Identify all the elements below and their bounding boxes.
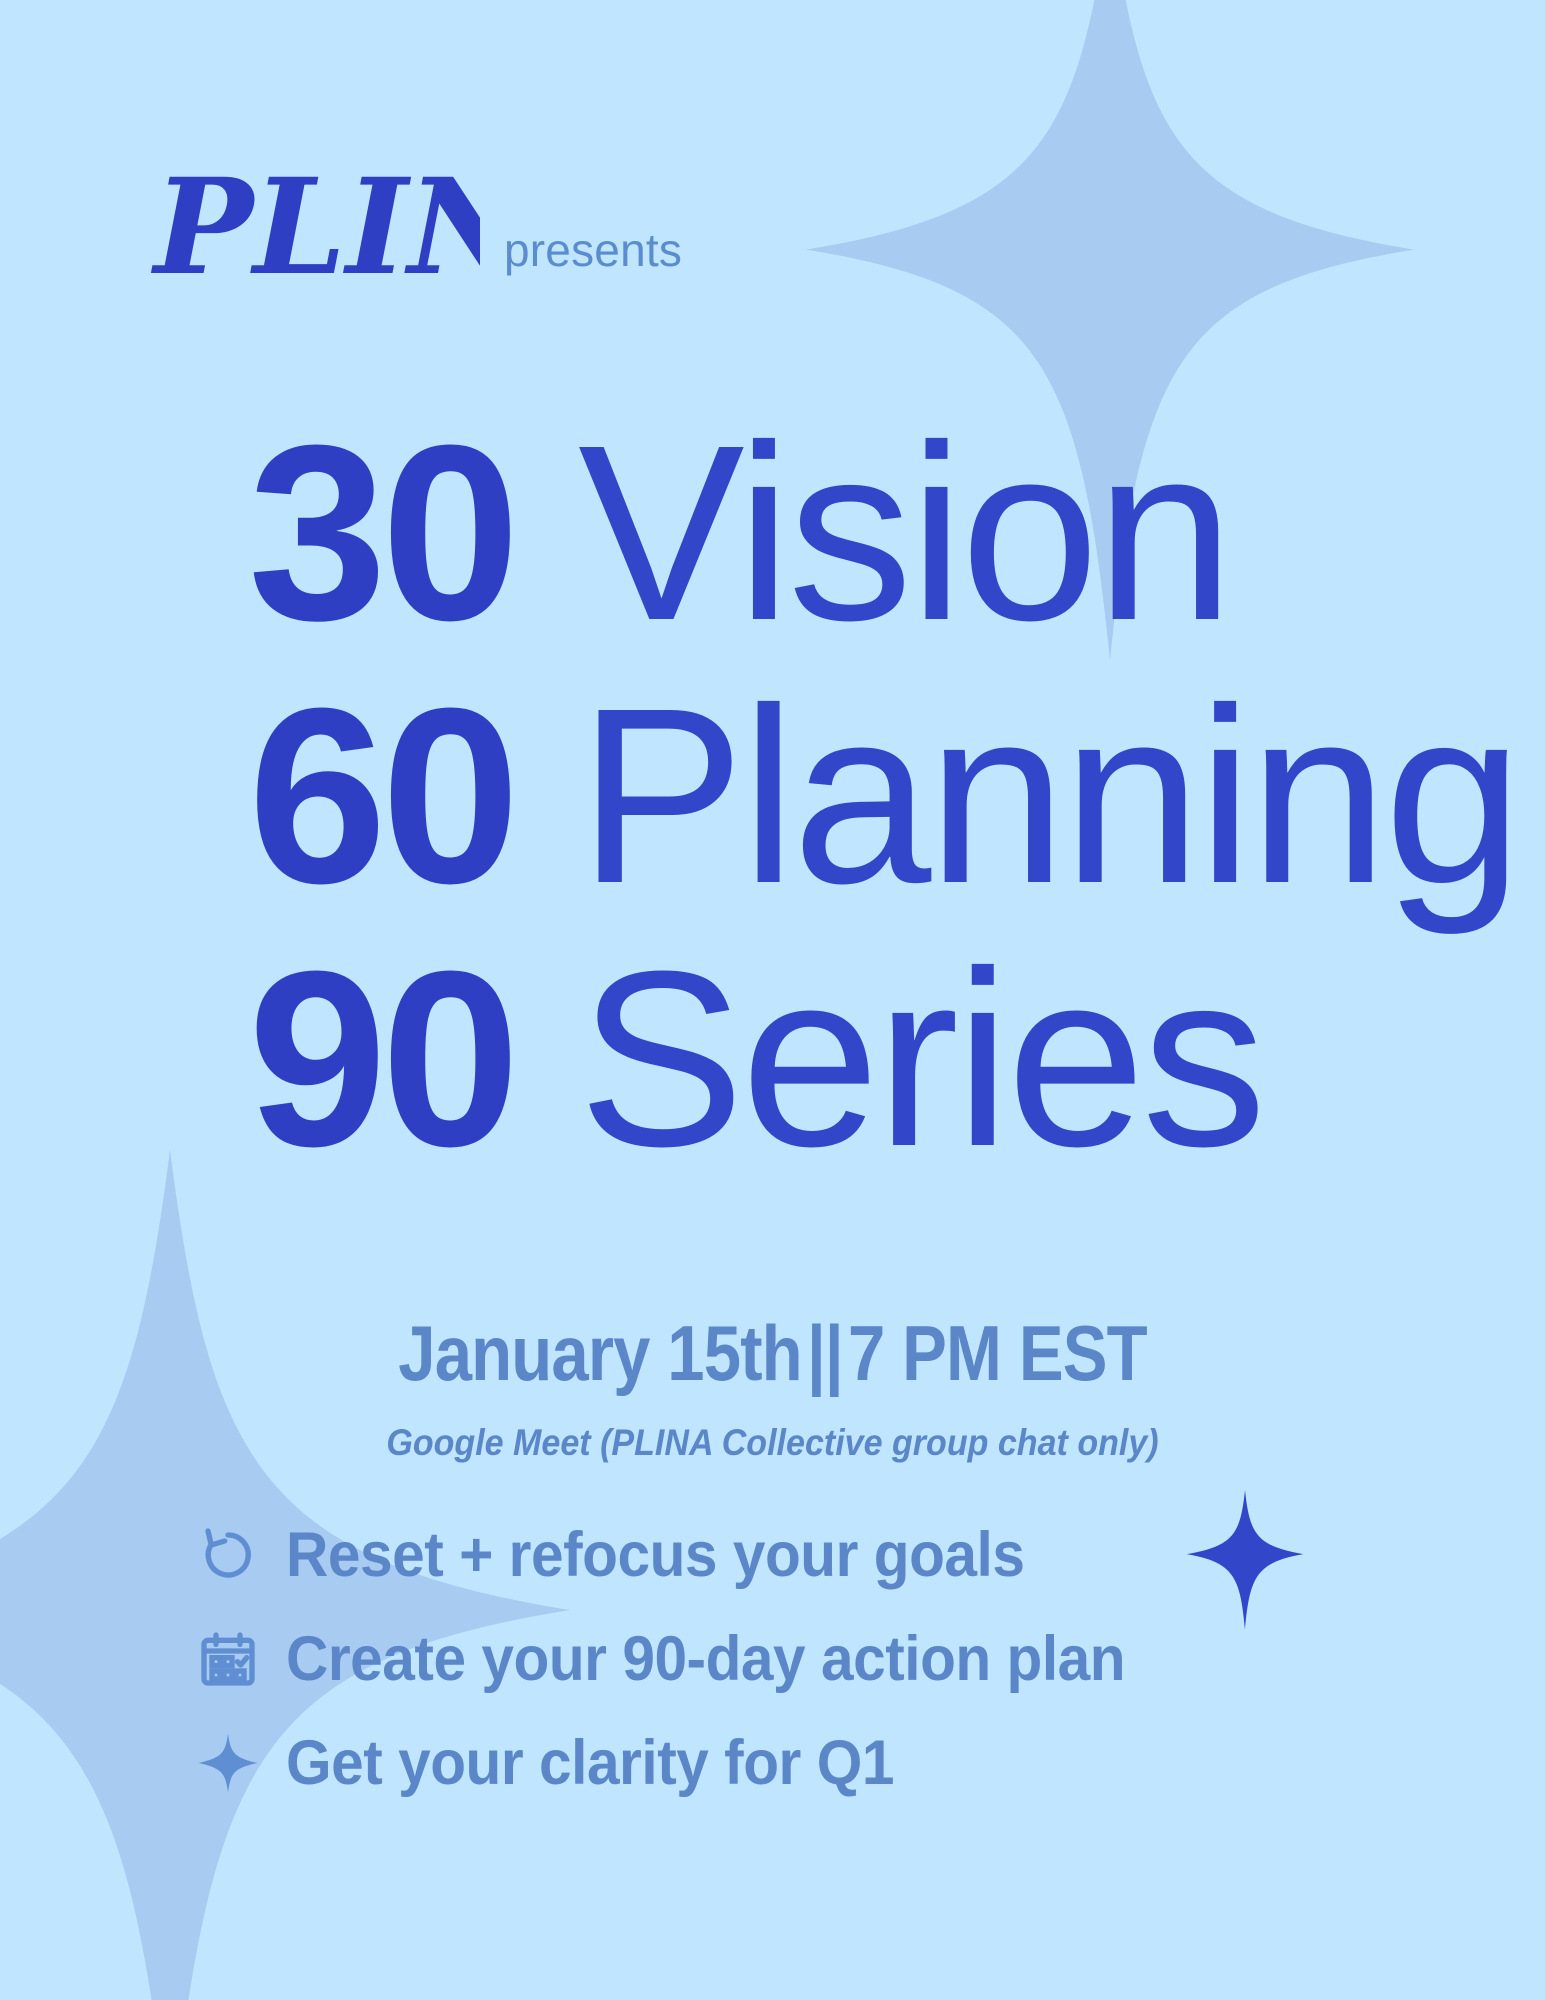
headline-word: Planning <box>578 671 1519 921</box>
headline-word: Series <box>578 934 1263 1184</box>
list-item: Reset + refocus your goals <box>196 1503 1356 1607</box>
headline-row: 90 Series <box>248 934 1478 1197</box>
brand-header: PLINA presents <box>150 135 682 315</box>
headline-block: 30 Vision 60 Planning 90 Series <box>248 408 1478 1197</box>
presents-label: presents <box>504 223 682 315</box>
event-date: January 15th <box>398 1309 802 1397</box>
headline-row: 30 Vision <box>248 408 1478 671</box>
event-venue: Google Meet (PLINA Collective group chat… <box>62 1422 1483 1464</box>
calendar-check-icon <box>196 1627 260 1691</box>
sparkle-icon <box>196 1731 260 1795</box>
poster-canvas: PLINA presents 30 Vision 60 Planning 90 … <box>0 0 1545 2000</box>
headline-number: 60 <box>248 671 538 921</box>
list-item-label: Reset + refocus your goals <box>286 1519 1024 1591</box>
headline-number: 90 <box>248 934 538 1184</box>
event-datetime: January 15th||7 PM EST <box>108 1308 1437 1399</box>
plina-logo-icon: PLINA <box>150 135 480 315</box>
reset-arrow-icon <box>196 1523 260 1587</box>
headline-word: Vision <box>578 408 1230 658</box>
list-item: Create your 90-day action plan <box>196 1607 1356 1711</box>
sparkle-accent-icon <box>1185 1490 1305 1630</box>
list-item-label: Get your clarity for Q1 <box>286 1727 894 1799</box>
list-item-label: Create your 90-day action plan <box>286 1623 1125 1695</box>
event-separator: || <box>802 1309 848 1397</box>
event-time: 7 PM EST <box>848 1309 1147 1397</box>
benefits-list: Reset + refocus your goals Create your 9… <box>196 1503 1356 1815</box>
headline-number: 30 <box>248 408 538 658</box>
list-item: Get your clarity for Q1 <box>196 1711 1356 1815</box>
plina-logo-text: PLINA <box>150 150 480 305</box>
headline-row: 60 Planning <box>248 671 1478 934</box>
